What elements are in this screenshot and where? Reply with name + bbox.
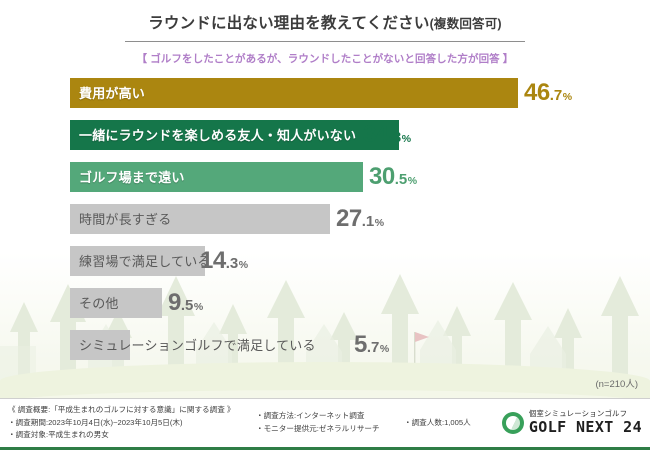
- bar-value-whole: 34: [363, 123, 389, 147]
- bar-category-label: 練習場で満足している: [70, 251, 219, 270]
- percent-sign: %: [375, 218, 384, 229]
- bar-chart: 費用が高い46.7%一緒にラウンドを楽しめる友人・知人がいない34.3%ゴルフ場…: [0, 78, 650, 360]
- brand-logo-text: 個室シミュレーションゴルフ GOLF NEXT 24: [529, 410, 642, 435]
- bar-value-label: 34.3%: [363, 123, 411, 147]
- brand-name: GOLF NEXT 24: [529, 419, 642, 436]
- bar-value-label: 27.1%: [336, 207, 384, 231]
- bar-row: ゴルフ場まで遠い30.5%: [70, 162, 650, 192]
- bar-value-fraction: .5: [395, 172, 408, 187]
- bar-category-label: その他: [70, 293, 127, 312]
- bar-row: 一緒にラウンドを楽しめる友人・知人がいない34.3%: [70, 120, 650, 150]
- bar-value-whole: 14: [200, 249, 226, 273]
- footer-target-line: ・調査対象:平成生まれの男女: [8, 429, 256, 442]
- footer-period-line: ・調査期間:2023年10月4日(水)~2023年10月5日(木): [8, 417, 256, 430]
- bar-value-fraction: .3: [226, 256, 239, 271]
- brand-logo[interactable]: 個室シミュレーションゴルフ GOLF NEXT 24: [502, 410, 642, 435]
- bar-row: 時間が長すぎる27.1%: [70, 204, 650, 234]
- footer-respondent-count: ・調査人数:1,005人: [404, 417, 500, 430]
- footer: 《 調査概要:「平成生まれのゴルフに対する意識」に関する調査 》 ・調査期間:2…: [0, 398, 650, 450]
- page-subtitle: 【 ゴルフをしたことがあるが、ラウンドしたことがないと回答した方が回答 】: [0, 51, 650, 66]
- footer-method-line: ・調査方法:インターネット調査: [256, 410, 404, 423]
- bar-value-fraction: .1: [362, 214, 375, 229]
- golf-ball-icon: [502, 412, 524, 434]
- percent-sign: %: [194, 302, 203, 313]
- bar-value-label: 46.7%: [524, 81, 572, 105]
- bar-value-fraction: .5: [181, 298, 194, 313]
- bar-value-label: 14.3%: [200, 249, 248, 273]
- percent-sign: %: [563, 92, 572, 103]
- bar-category-label: 時間が長すぎる: [70, 209, 179, 228]
- bar-value-label: 9.5%: [168, 291, 203, 315]
- bar-row: 練習場で満足している14.3%: [70, 246, 650, 276]
- page-title-main: ラウンドに出ない理由を教えてください: [148, 15, 429, 32]
- footer-monitor-line: ・モニター提供元:ゼネラルリサーチ: [256, 423, 404, 436]
- bar-row: その他9.5%: [70, 288, 650, 318]
- footer-count-line: ・調査人数:1,005人: [404, 417, 500, 430]
- page-title-paren: (複数回答可): [430, 17, 502, 31]
- bar-value-whole: 9: [168, 291, 181, 315]
- percent-sign: %: [380, 344, 389, 355]
- bar-segment: 練習場で満足している: [70, 246, 205, 276]
- bar-segment: 費用が高い: [70, 78, 518, 108]
- bar-category-label: 一緒にラウンドを楽しめる友人・知人がいない: [70, 125, 364, 144]
- percent-sign: %: [239, 260, 248, 271]
- bar-segment: シミュレーションゴルフで満足している: [70, 330, 130, 360]
- footer-overview-line: 《 調査概要:「平成生まれのゴルフに対する意識」に関する調査 》: [8, 404, 256, 417]
- bar-value-whole: 46: [524, 81, 550, 105]
- page-title: ラウンドに出ない理由を教えてください(複数回答可): [0, 14, 650, 35]
- percent-sign: %: [402, 134, 411, 145]
- footer-survey-method: ・調査方法:インターネット調査 ・モニター提供元:ゼネラルリサーチ: [256, 410, 404, 435]
- bar-value-fraction: .7: [550, 88, 563, 103]
- bar-value-fraction: .3: [389, 130, 402, 145]
- bar-category-label: シミュレーションゴルフで満足している: [70, 335, 324, 354]
- bar-category-label: 費用が高い: [70, 83, 153, 102]
- bar-row: シミュレーションゴルフで満足している5.7%: [70, 330, 650, 360]
- chart-header: ラウンドに出ない理由を教えてください(複数回答可) 【 ゴルフをしたことがあるが…: [0, 0, 650, 66]
- bar-category-label: ゴルフ場まで遠い: [70, 167, 193, 186]
- bar-value-label: 5.7%: [354, 333, 389, 357]
- percent-sign: %: [408, 176, 417, 187]
- title-divider: [125, 41, 525, 42]
- bar-segment: 時間が長すぎる: [70, 204, 330, 234]
- bar-segment: その他: [70, 288, 162, 318]
- bar-segment: 一緒にラウンドを楽しめる友人・知人がいない: [70, 120, 399, 150]
- bar-value-label: 30.5%: [369, 165, 417, 189]
- bar-segment: ゴルフ場まで遠い: [70, 162, 363, 192]
- sample-size-note: (n=210人): [595, 376, 638, 390]
- bar-value-whole: 27: [336, 207, 362, 231]
- bar-row: 費用が高い46.7%: [70, 78, 650, 108]
- footer-survey-overview: 《 調査概要:「平成生まれのゴルフに対する意識」に関する調査 》 ・調査期間:2…: [8, 404, 256, 442]
- bar-value-whole: 5: [354, 333, 367, 357]
- bar-value-whole: 30: [369, 165, 395, 189]
- bar-value-fraction: .7: [367, 340, 380, 355]
- infographic-root: ラウンドに出ない理由を教えてください(複数回答可) 【 ゴルフをしたことがあるが…: [0, 0, 650, 450]
